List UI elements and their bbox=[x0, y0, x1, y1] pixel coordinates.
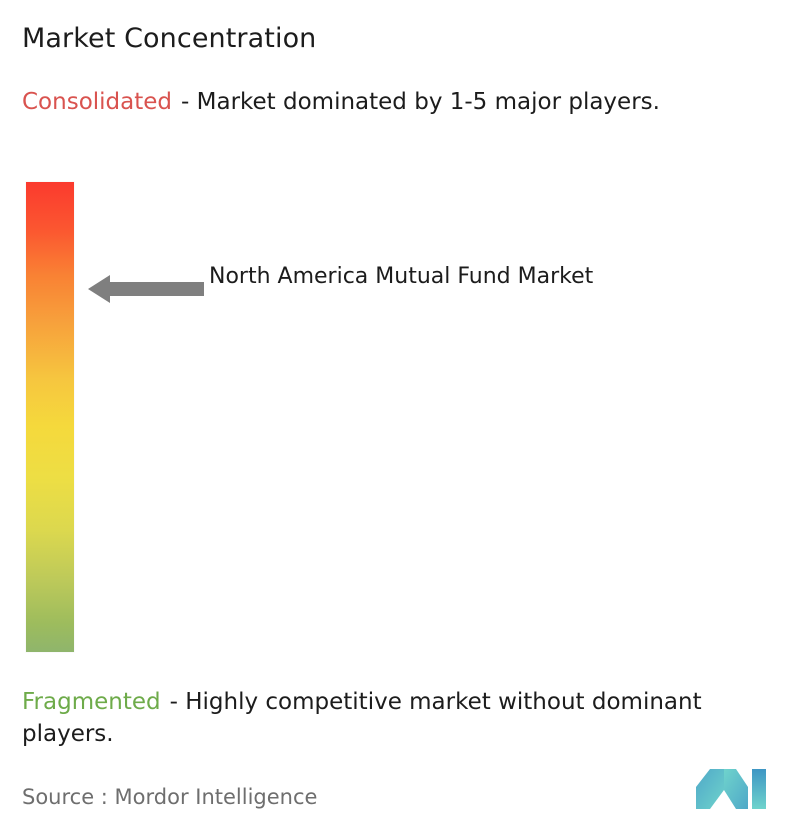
callout-arrow bbox=[88, 272, 204, 306]
concentration-gradient-scale bbox=[26, 182, 74, 652]
legend-fragmented-keyword: Fragmented bbox=[22, 689, 161, 715]
page-title: Market Concentration bbox=[22, 22, 316, 56]
brand-logo bbox=[694, 767, 770, 811]
legend-consolidated-description: - Market dominated by 1-5 major players. bbox=[181, 89, 660, 115]
source-attribution: Source : Mordor Intelligence bbox=[22, 784, 317, 810]
legend-fragmented: Fragmented- Highly competitive market wi… bbox=[22, 686, 784, 750]
legend-consolidated: Consolidated- Market dominated by 1-5 ma… bbox=[22, 86, 768, 118]
footer-divider bbox=[0, 767, 796, 768]
callout-label: North America Mutual Fund Market bbox=[209, 259, 629, 294]
market-concentration-infographic: Market Concentration Consolidated- Marke… bbox=[0, 0, 796, 834]
left-arrow-icon bbox=[88, 272, 204, 306]
legend-consolidated-keyword: Consolidated bbox=[22, 89, 172, 115]
mordor-intelligence-logo-icon bbox=[694, 767, 770, 811]
